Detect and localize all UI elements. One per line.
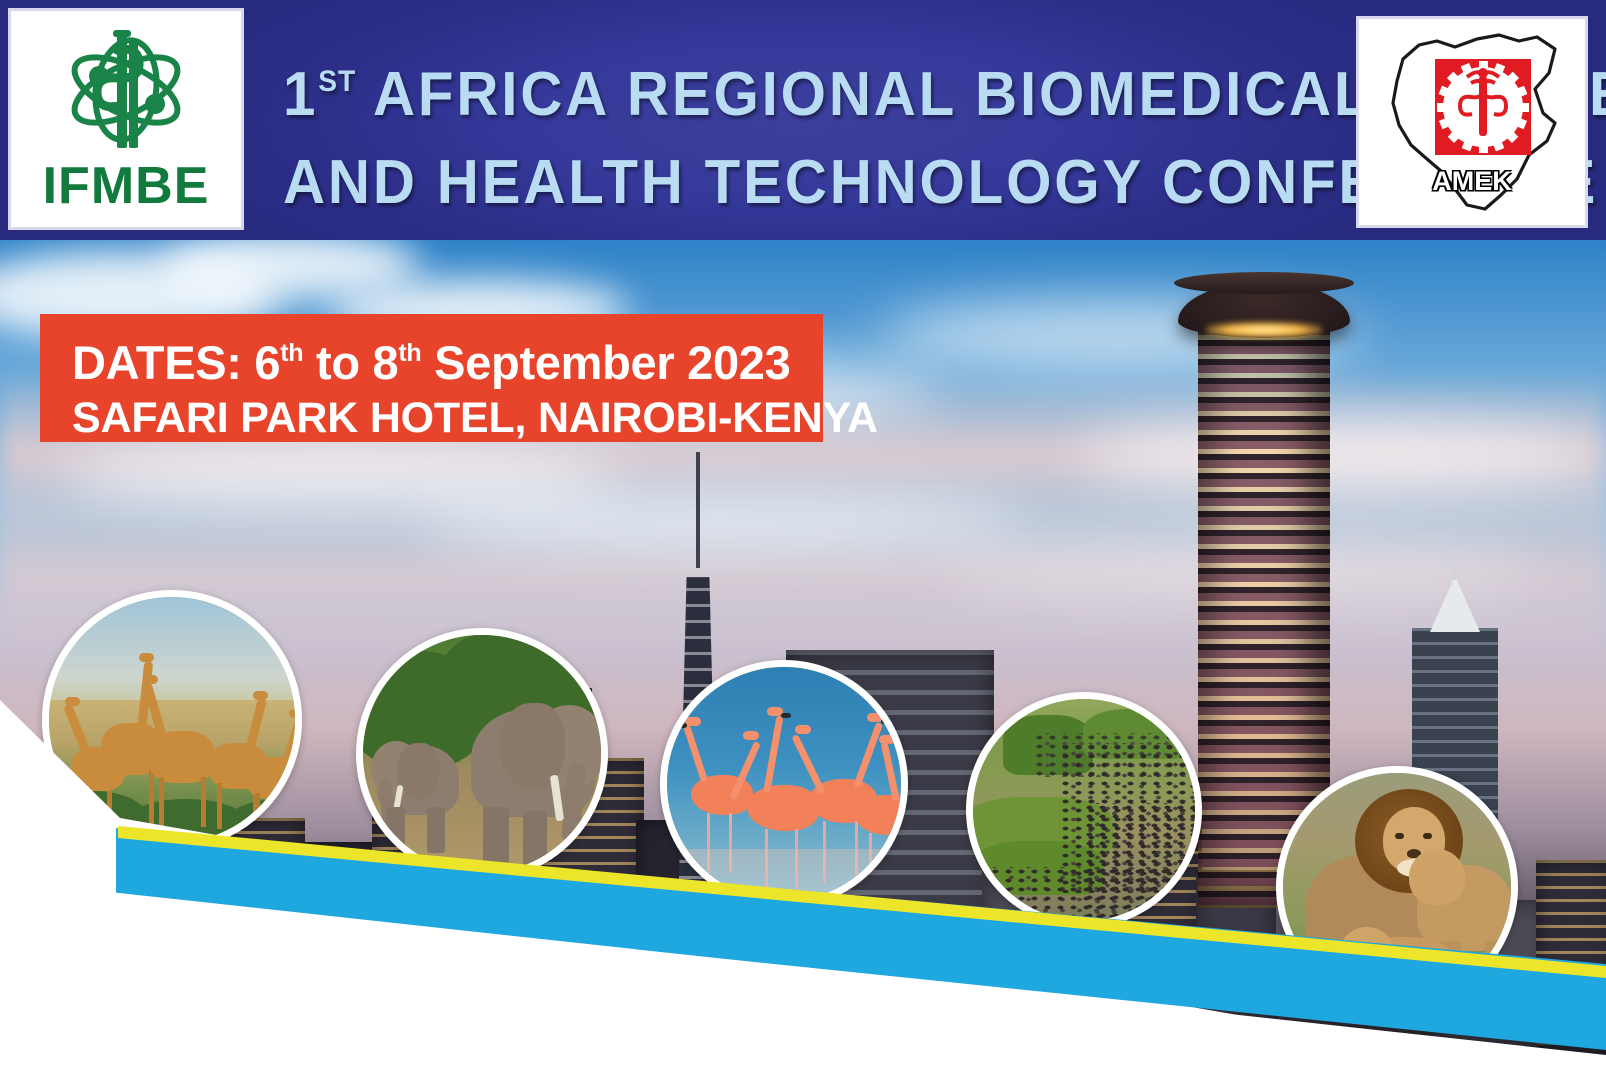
date-location-banner: DATES: 6th to 8th September 2023 SAFARI … <box>40 314 823 442</box>
elephant-leg <box>523 811 547 869</box>
photo-bubble-lions[interactable] <box>1276 766 1518 1008</box>
dates-suffix: September 2023 <box>421 336 790 389</box>
flamingos-image <box>667 667 901 901</box>
flamingo-beak <box>781 713 791 718</box>
grass-foreground <box>1283 965 1511 1001</box>
lion-cub-eye <box>1353 949 1361 954</box>
elephant-leg <box>427 807 445 853</box>
lion-eye <box>1395 833 1404 839</box>
giraffe-head <box>253 691 268 700</box>
wildebeest-herd <box>966 867 1202 928</box>
atom-caduceus-icon <box>51 26 201 166</box>
conference-dates: DATES: 6th to 8th September 2023 <box>72 324 823 392</box>
flamingo-head <box>743 731 759 740</box>
conference-banner: DATES: 6th to 8th September 2023 SAFARI … <box>0 0 1606 1080</box>
elephant-leg <box>387 807 405 855</box>
flamingo-beak <box>881 719 891 724</box>
title-line-2: AND HEALTH TECHNOLOGY CONFERENCE <box>283 139 1317 227</box>
giraffe-leg <box>255 793 260 833</box>
cloud <box>1080 420 1600 490</box>
giraffe-head <box>289 709 302 718</box>
tower-spire <box>1453 550 1456 580</box>
giraffe-leg <box>149 769 154 825</box>
photo-bubble-flamingos[interactable] <box>660 660 908 908</box>
conference-venue: SAFARI PARK HOTEL, NAIROBI-KENYA <box>72 392 823 444</box>
ordinal-number: 1 <box>283 60 318 129</box>
ifmbe-logo[interactable]: IFMBE <box>8 8 244 230</box>
giraffe-head <box>139 653 154 662</box>
wildebeest-image <box>973 699 1195 921</box>
giraffe-leg <box>159 777 164 827</box>
kicc-roof-disc <box>1174 272 1354 294</box>
giraffe-leg <box>79 785 84 829</box>
giraffe-leg <box>201 777 206 827</box>
lion-cub-eye <box>1377 949 1385 954</box>
kicc-lights <box>1206 322 1322 338</box>
flamingo <box>747 785 819 831</box>
tower-mast <box>696 452 700 568</box>
ifmbe-wordmark: IFMBE <box>43 160 210 212</box>
elephants-image <box>363 635 601 873</box>
ordinal-suffix-6th: th <box>280 339 303 367</box>
elephant-ear <box>397 743 439 799</box>
flamingo-head <box>685 717 701 726</box>
giraffe-leg <box>217 783 222 829</box>
flamingo-beak <box>677 723 687 728</box>
amek-wordmark: AMEK <box>1359 166 1585 197</box>
ordinal-suffix: ST <box>318 65 356 98</box>
title-line-1: 1ST AFRICA REGIONAL BIOMEDICAL ENGINEERI… <box>283 38 1317 139</box>
photo-bubble-elephants[interactable] <box>356 628 608 880</box>
conference-title: 1ST AFRICA REGIONAL BIOMEDICAL ENGINEERI… <box>250 38 1350 227</box>
giraffe-head <box>65 697 80 706</box>
lion-eye <box>1423 833 1432 839</box>
water-reflection <box>667 849 901 901</box>
dates-mid: to 8 <box>303 336 398 389</box>
giraffe-head <box>143 675 158 684</box>
cloud <box>60 440 620 510</box>
flamingo-head <box>879 735 895 744</box>
giraffes-image <box>49 597 295 843</box>
tower-cap <box>1430 576 1480 632</box>
lions-image <box>1283 773 1511 1001</box>
wildebeest-herd <box>1033 733 1202 777</box>
ordinal-suffix-8th: th <box>398 339 421 367</box>
amek-logo[interactable]: AMEK <box>1356 16 1588 228</box>
dates-prefix: DATES: 6 <box>72 336 280 389</box>
photo-bubble-giraffes[interactable] <box>42 590 302 850</box>
elephant-leg <box>483 807 509 869</box>
flamingo-head <box>795 725 811 734</box>
photo-bubble-wildebeest[interactable] <box>966 692 1202 928</box>
lioness-head <box>1409 849 1465 905</box>
